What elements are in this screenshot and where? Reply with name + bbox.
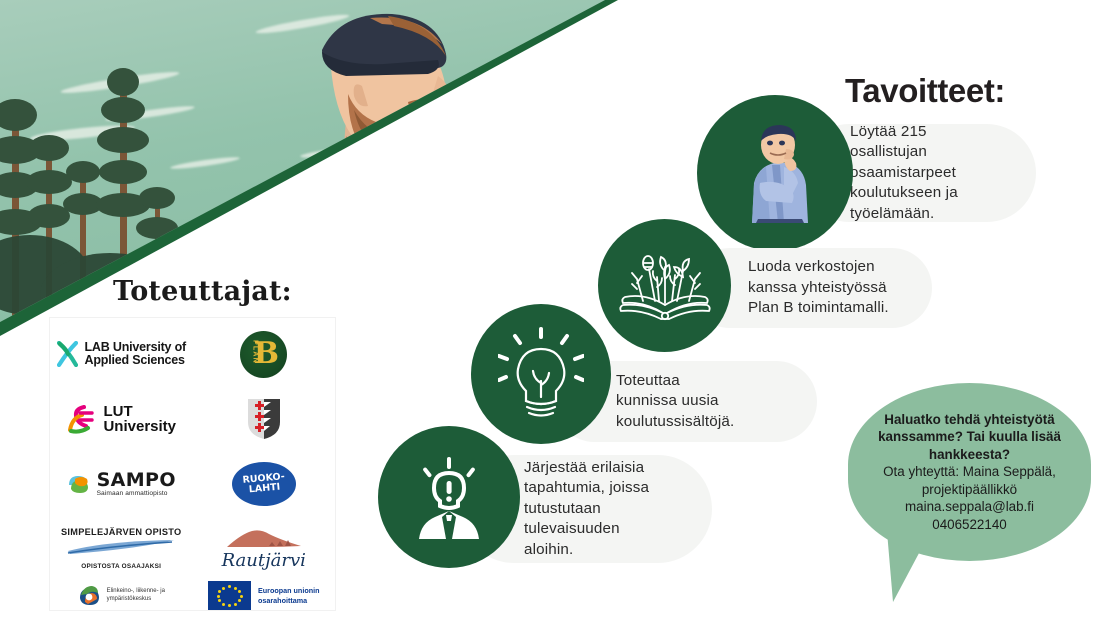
logo-european-union: Euroopan unionin osarahoittama <box>193 581 336 610</box>
ely-mark-icon <box>78 584 101 607</box>
open-book-plants-icon <box>617 245 713 327</box>
simpele-title: SIMPELEJÄRVEN OPISTO <box>50 527 193 537</box>
simpele-tagline: OPISTOSTA OSAAJAKSI <box>50 563 193 570</box>
contact-question-line-1: Haluatko tehdä yhteistyötä <box>878 411 1061 428</box>
logo-rautjarvi: Rautjärvi <box>193 516 336 581</box>
logo-sampo: SAMPO Saimaan ammattiopisto <box>50 452 193 517</box>
logo-ely-keskus: Elinkeino-, liikenne- ja ympäristökeskus <box>50 581 193 610</box>
eu-line-2: osarahoittama <box>258 596 319 605</box>
goal-text-4: Järjestää erilaisia tapahtumia, joissa t… <box>524 458 649 560</box>
contact-person-line: Ota yhteyttä: Maina Seppälä, <box>878 463 1061 480</box>
goal-text-3: Toteuttaa kunnissa uusia koulutussisältö… <box>616 371 734 432</box>
implementers-logo-card: LAB University of Applied Sciences PLAN … <box>50 318 335 610</box>
lut-name-line-2: University <box>103 419 176 435</box>
contact-phone[interactable]: 0406522140 <box>878 516 1061 533</box>
contact-role-line: projektipäällikkö <box>878 481 1061 498</box>
contact-text: Haluatko tehdä yhteistyötä kanssamme? Ta… <box>878 411 1061 533</box>
goal-text-1: Löytää 215 osallistujan osaamistarpeet k… <box>850 122 958 224</box>
sampo-mark-icon <box>67 473 92 495</box>
hill-icon <box>225 526 303 548</box>
contact-bubble: Haluatko tehdä yhteistyötä kanssamme? Ta… <box>848 383 1091 561</box>
goal-circle-4 <box>378 426 520 568</box>
eu-flag-icon <box>208 581 251 610</box>
logo-ruokolahti: RUOKO- LAHTI <box>193 452 336 517</box>
sampo-subtitle: Saimaan ammattiopisto <box>97 491 176 498</box>
sampo-name: SAMPO <box>97 471 176 490</box>
lightbulb-icon <box>498 327 584 421</box>
logo-lab-university: LAB University of Applied Sciences <box>50 322 193 387</box>
goal-circle-3 <box>471 304 611 444</box>
goal-circle-1 <box>697 95 853 251</box>
coat-of-arms-icon <box>247 398 281 440</box>
lab-name-line-1: LAB University of <box>85 341 186 355</box>
goal-text-2: Luoda verkostojen kanssa yhteistyössä Pl… <box>748 257 889 318</box>
contact-question-line-2: kanssamme? Tai kuulla lisää <box>878 428 1061 445</box>
plan-b-word: PLAN <box>251 340 258 364</box>
ely-line-1: Elinkeino-, liikenne- ja <box>107 588 165 596</box>
ruokolahti-line-2: LAHTI <box>243 482 286 496</box>
lab-name-line-2: Applied Sciences <box>85 354 186 368</box>
lut-name-line-1: LUT <box>103 404 176 420</box>
goals-heading: Tavoitteet: <box>845 72 1005 110</box>
lab-x-mark-icon <box>57 341 78 367</box>
rautjarvi-name: Rautjärvi <box>222 550 306 571</box>
implementers-heading: Toteuttajat: <box>113 276 292 307</box>
logo-simpelejarven-opisto: SIMPELEJÄRVEN OPISTO OPISTOSTA OSAAJAKSI <box>50 516 193 581</box>
logo-rautjarvi-coat-of-arms <box>193 387 336 452</box>
thinking-person-icon <box>740 123 810 223</box>
logo-lut-university: LUT University <box>50 387 193 452</box>
contact-question-line-3: hankkeesta? <box>878 446 1061 463</box>
contact-email[interactable]: maina.seppala@lab.fi <box>878 498 1061 515</box>
goal-circle-2 <box>598 219 731 352</box>
wave-icon <box>66 539 176 555</box>
eu-line-1: Euroopan unionin <box>258 586 319 595</box>
person-idea-icon <box>409 455 489 539</box>
ely-line-2: ympäristökeskus <box>107 596 165 604</box>
lut-ampersand-icon <box>66 404 95 434</box>
infographic-poster: Tavoitteet: Toteuttajat: Löytää 215 osal… <box>0 0 1101 620</box>
logo-plan-b: PLAN B <box>193 322 336 387</box>
